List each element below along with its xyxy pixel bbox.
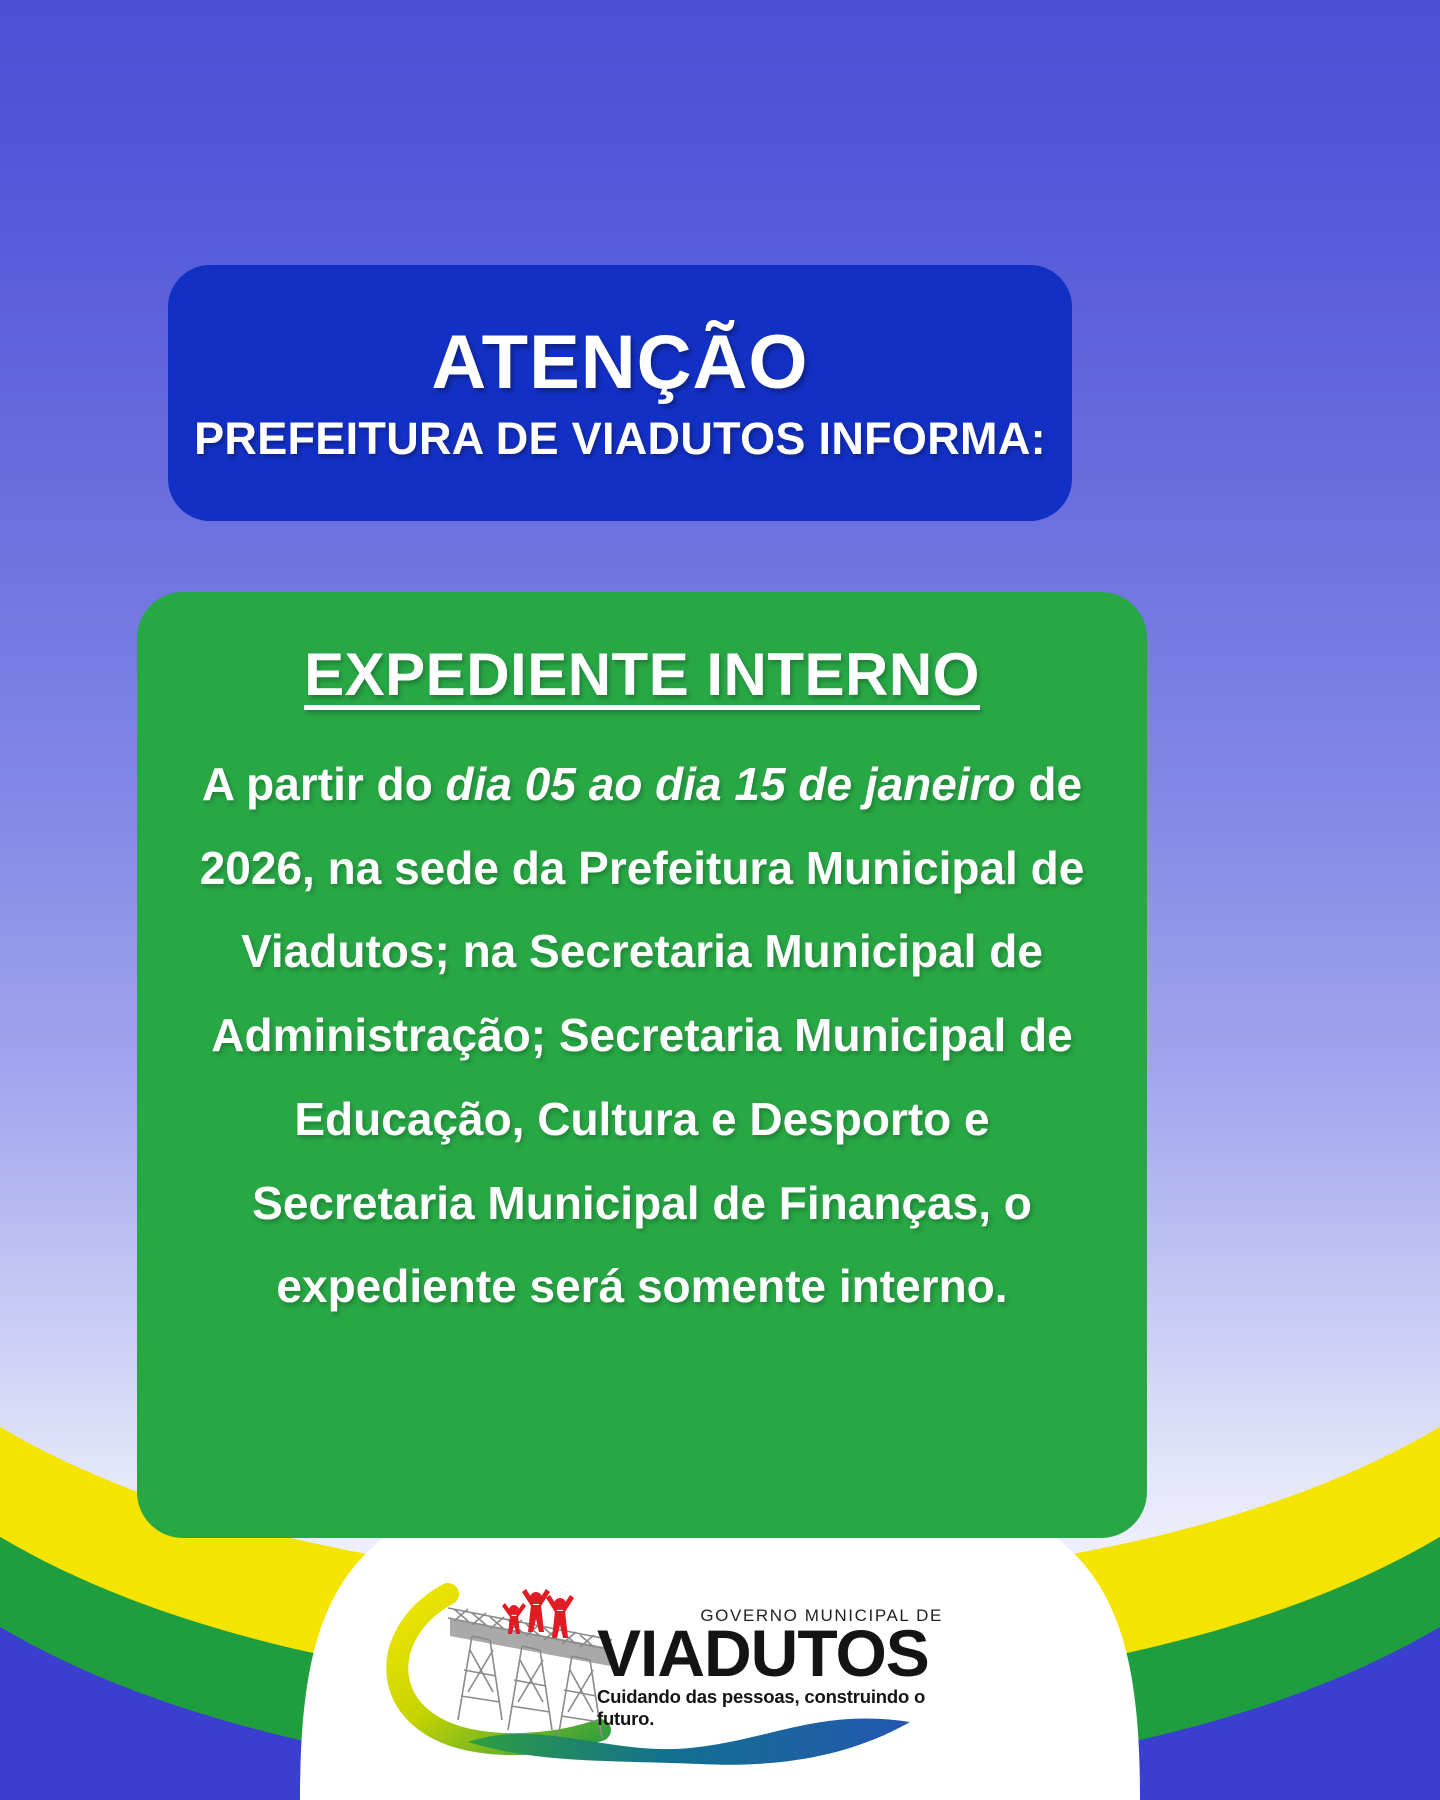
- notice-card: EXPEDIENTE INTERNO A partir do dia 05 ao…: [137, 592, 1147, 1538]
- notice-body-part-2: de 2026, na sede da Prefeitura Municipal…: [200, 758, 1085, 1312]
- notice-heading: EXPEDIENTE INTERNO: [304, 640, 980, 709]
- municipal-logo: GOVERNO MUNICIPAL DE VIADUTOS Cuidando d…: [350, 1570, 950, 1770]
- notice-body: A partir do dia 05 ao dia 15 de janeiro …: [175, 743, 1109, 1329]
- attention-header-card: ATENÇÃO PREFEITURA DE VIADUTOS INFORMA:: [168, 265, 1072, 521]
- poster-canvas: ATENÇÃO PREFEITURA DE VIADUTOS INFORMA: …: [0, 0, 1440, 1800]
- notice-body-part-1: A partir do: [202, 758, 446, 810]
- logo-wordmark: GOVERNO MUNICIPAL DE VIADUTOS Cuidando d…: [597, 1606, 947, 1730]
- header-subtitle: PREFEITURA DE VIADUTOS INFORMA:: [194, 415, 1046, 462]
- logo-municipality-name: VIADUTOS: [597, 1622, 947, 1685]
- page-title: ATENÇÃO: [431, 324, 808, 402]
- notice-body-emphasis: dia 05 ao dia 15 de janeiro: [446, 758, 1016, 810]
- logo-tagline: Cuidando das pessoas, construindo o futu…: [597, 1686, 947, 1730]
